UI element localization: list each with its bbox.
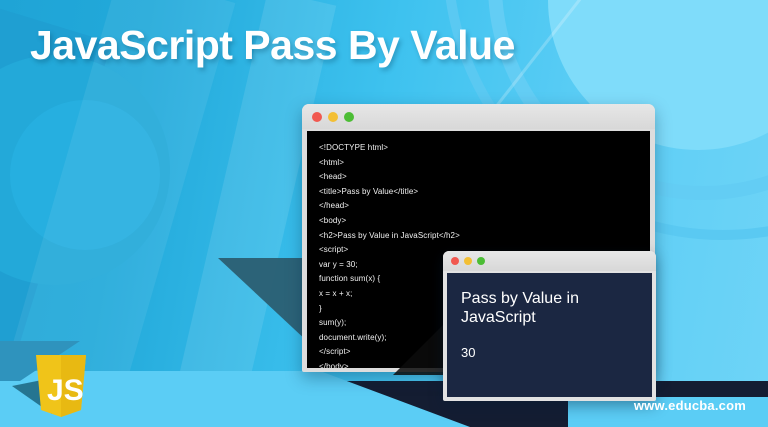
browser-output-window: Pass by Value in JavaScript 30 xyxy=(443,251,656,401)
minimize-icon[interactable] xyxy=(328,112,338,122)
footer-url: www.educba.com xyxy=(634,398,746,413)
browser-heading: Pass by Value in JavaScript xyxy=(461,289,638,327)
code-line: <title>Pass by Value</title> xyxy=(319,185,650,200)
code-line: <html> xyxy=(319,156,650,171)
browser-output-value: 30 xyxy=(461,345,638,360)
browser-content: Pass by Value in JavaScript 30 xyxy=(447,273,652,397)
background-circle-left-inner xyxy=(10,100,160,250)
maximize-icon[interactable] xyxy=(477,257,485,265)
code-line: <body> xyxy=(319,214,650,229)
maximize-icon[interactable] xyxy=(344,112,354,122)
code-line: <h2>Pass by Value in JavaScript</h2> xyxy=(319,229,650,244)
code-line: </head> xyxy=(319,199,650,214)
javascript-logo-icon: JS xyxy=(34,355,88,417)
code-line: <head> xyxy=(319,170,650,185)
browser-window-titlebar xyxy=(443,251,656,271)
code-line: <!DOCTYPE html> xyxy=(319,141,650,156)
banner-graphic: JavaScript Pass By Value <!DOCTYPE html>… xyxy=(0,0,768,427)
minimize-icon[interactable] xyxy=(464,257,472,265)
code-window-titlebar xyxy=(302,104,655,129)
close-icon[interactable] xyxy=(312,112,322,122)
svg-text:JS: JS xyxy=(47,374,84,407)
background-circle-left-outer xyxy=(0,55,170,285)
close-icon[interactable] xyxy=(451,257,459,265)
page-title: JavaScript Pass By Value xyxy=(30,22,515,69)
